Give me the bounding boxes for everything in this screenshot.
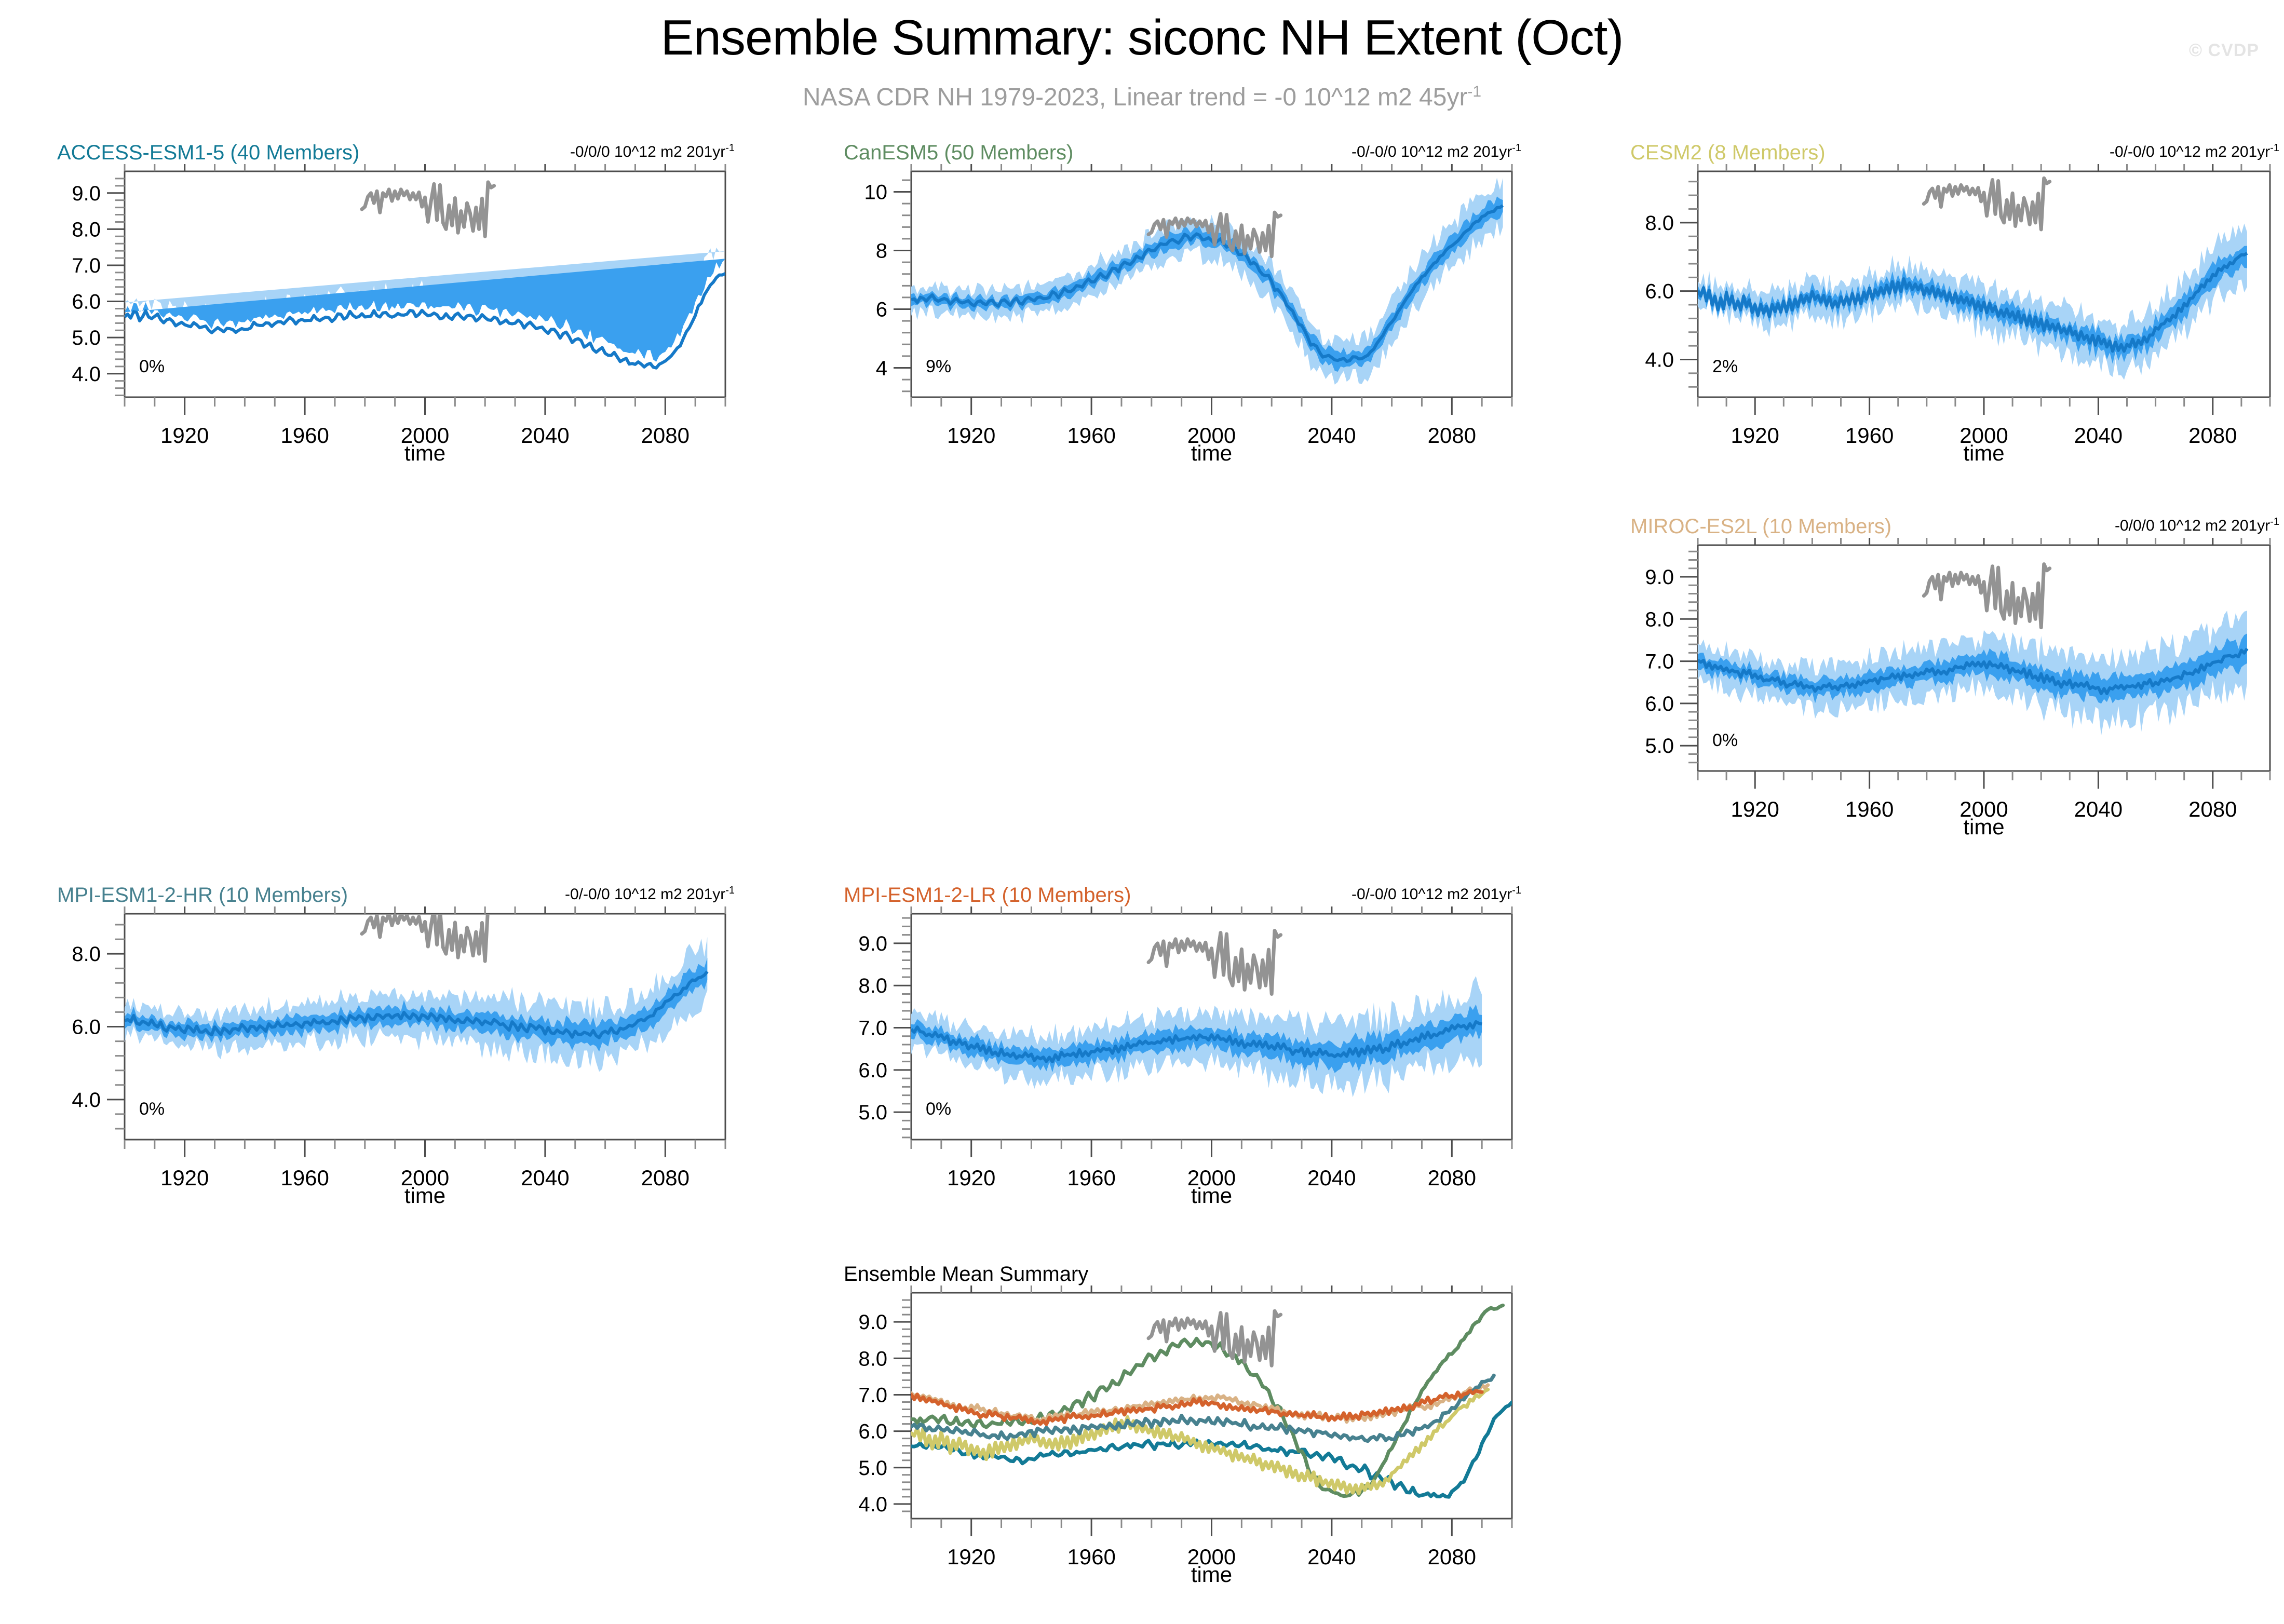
variance-pct-mpi-esm1-2-hr: 0%: [139, 1099, 165, 1119]
plot-area-mpi-esm1-2-hr: 4.06.08.019201960200020402080: [57, 906, 735, 1189]
svg-text:6.0: 6.0: [1645, 693, 1674, 715]
plot-area-cesm2: 4.06.08.019201960200020402080: [1630, 164, 2279, 447]
panel-trend-cesm2: -0/-0/0 10^12 m2 201yr-1: [2110, 142, 2279, 161]
variance-pct-cesm2: 2%: [1712, 357, 1738, 377]
panel-title-miroc-es2l: MIROC-ES2L (10 Members): [1630, 515, 1891, 538]
panel-trend-access-esm1-5: -0/0/0 10^12 m2 201yr-1: [570, 142, 735, 161]
svg-text:7.0: 7.0: [1645, 651, 1674, 673]
figure-root: Ensemble Summary: siconc NH Extent (Oct)…: [0, 0, 2284, 1624]
panel-trend-mpi-esm1-2-hr: -0/-0/0 10^12 m2 201yr-1: [565, 885, 735, 903]
svg-text:6.0: 6.0: [858, 1420, 887, 1443]
trend-exponent: -1: [1512, 142, 1521, 154]
svg-text:7.0: 7.0: [72, 254, 101, 277]
trend-exponent: -1: [2270, 516, 2279, 527]
svg-text:6.0: 6.0: [72, 291, 101, 314]
svg-text:4: 4: [876, 357, 887, 380]
svg-text:4.0: 4.0: [1645, 349, 1674, 372]
variance-pct-canesm5: 9%: [926, 357, 951, 377]
trend-exponent: -1: [725, 142, 735, 154]
svg-text:8: 8: [876, 240, 887, 263]
svg-text:8.0: 8.0: [1645, 212, 1674, 235]
svg-text:7.0: 7.0: [858, 1017, 887, 1040]
trend-text: -0/-0/0 10^12 m2 201yr: [1352, 886, 1512, 903]
x-axis-label-cesm2: time: [1698, 441, 2270, 466]
x-axis-label-miroc-es2l: time: [1698, 815, 2270, 840]
x-axis-label-access-esm1-5: time: [125, 441, 725, 466]
svg-text:4.0: 4.0: [72, 1089, 101, 1112]
cvdp-watermark: © CVDP: [2189, 40, 2259, 61]
panel-title-canesm5: CanESM5 (50 Members): [844, 141, 1073, 165]
svg-text:9.0: 9.0: [858, 932, 887, 955]
svg-text:9.0: 9.0: [1645, 566, 1674, 589]
x-axis-label-canesm5: time: [911, 441, 1512, 466]
svg-text:5.0: 5.0: [858, 1457, 887, 1480]
plot-area-miroc-es2l: 5.06.07.08.09.019201960200020402080: [1630, 538, 2279, 821]
x-axis-label-ensemble-mean-summary: time: [911, 1562, 1512, 1587]
svg-text:6.0: 6.0: [72, 1016, 101, 1039]
panel-title-access-esm1-5: ACCESS-ESM1-5 (40 Members): [57, 141, 359, 165]
trend-text: -0/-0/0 10^12 m2 201yr: [1352, 143, 1512, 160]
x-axis-label-mpi-esm1-2-lr: time: [911, 1183, 1512, 1208]
plot-area-ensemble-mean-summary: 4.05.06.07.08.09.019201960200020402080: [844, 1285, 1521, 1568]
svg-text:8.0: 8.0: [858, 1347, 887, 1370]
plot-area-access-esm1-5: 4.05.06.07.08.09.019201960200020402080: [57, 164, 735, 447]
x-axis-label-mpi-esm1-2-hr: time: [125, 1183, 725, 1208]
panel-trend-mpi-esm1-2-lr: -0/-0/0 10^12 m2 201yr-1: [1352, 885, 1521, 903]
trend-exponent: -1: [725, 885, 735, 896]
svg-text:8.0: 8.0: [1645, 608, 1674, 631]
panel-title-ensemble-mean-summary: Ensemble Mean Summary: [844, 1263, 1088, 1286]
variance-pct-miroc-es2l: 0%: [1712, 730, 1738, 751]
panel-trend-miroc-es2l: -0/0/0 10^12 m2 201yr-1: [2115, 516, 2279, 535]
svg-text:5.0: 5.0: [72, 327, 101, 349]
subtitle-text: NASA CDR NH 1979-2023, Linear trend = -0…: [803, 84, 1468, 111]
trend-text: -0/-0/0 10^12 m2 201yr: [565, 886, 725, 903]
trend-text: -0/0/0 10^12 m2 201yr: [570, 143, 725, 160]
variance-pct-mpi-esm1-2-lr: 0%: [926, 1099, 951, 1119]
plot-area-mpi-esm1-2-lr: 5.06.07.08.09.019201960200020402080: [844, 906, 1521, 1189]
subtitle-exponent: -1: [1467, 83, 1481, 100]
trend-exponent: -1: [1512, 885, 1521, 896]
svg-text:5.0: 5.0: [858, 1101, 887, 1124]
svg-text:10: 10: [864, 181, 888, 204]
panel-title-mpi-esm1-2-hr: MPI-ESM1-2-HR (10 Members): [57, 884, 348, 907]
svg-text:6.0: 6.0: [858, 1059, 887, 1082]
plot-area-canesm5: 4681019201960200020402080: [844, 164, 1521, 447]
svg-text:4.0: 4.0: [72, 363, 101, 386]
trend-text: -0/-0/0 10^12 m2 201yr: [2110, 143, 2270, 160]
svg-text:9.0: 9.0: [72, 182, 101, 205]
variance-pct-access-esm1-5: 0%: [139, 357, 165, 377]
svg-text:9.0: 9.0: [858, 1311, 887, 1334]
trend-exponent: -1: [2270, 142, 2279, 154]
svg-text:6: 6: [876, 299, 887, 321]
svg-text:6.0: 6.0: [1645, 280, 1674, 303]
svg-text:4.0: 4.0: [858, 1493, 887, 1516]
panel-title-cesm2: CESM2 (8 Members): [1630, 141, 1826, 165]
svg-text:8.0: 8.0: [72, 943, 101, 966]
svg-text:5.0: 5.0: [1645, 735, 1674, 757]
svg-text:7.0: 7.0: [858, 1384, 887, 1406]
subtitle: NASA CDR NH 1979-2023, Linear trend = -0…: [0, 83, 2284, 112]
page-title: Ensemble Summary: siconc NH Extent (Oct): [0, 9, 2284, 66]
panel-trend-canesm5: -0/-0/0 10^12 m2 201yr-1: [1352, 142, 1521, 161]
panel-title-mpi-esm1-2-lr: MPI-ESM1-2-LR (10 Members): [844, 884, 1131, 907]
trend-text: -0/0/0 10^12 m2 201yr: [2115, 517, 2270, 534]
svg-text:8.0: 8.0: [858, 975, 887, 997]
svg-text:8.0: 8.0: [72, 218, 101, 241]
